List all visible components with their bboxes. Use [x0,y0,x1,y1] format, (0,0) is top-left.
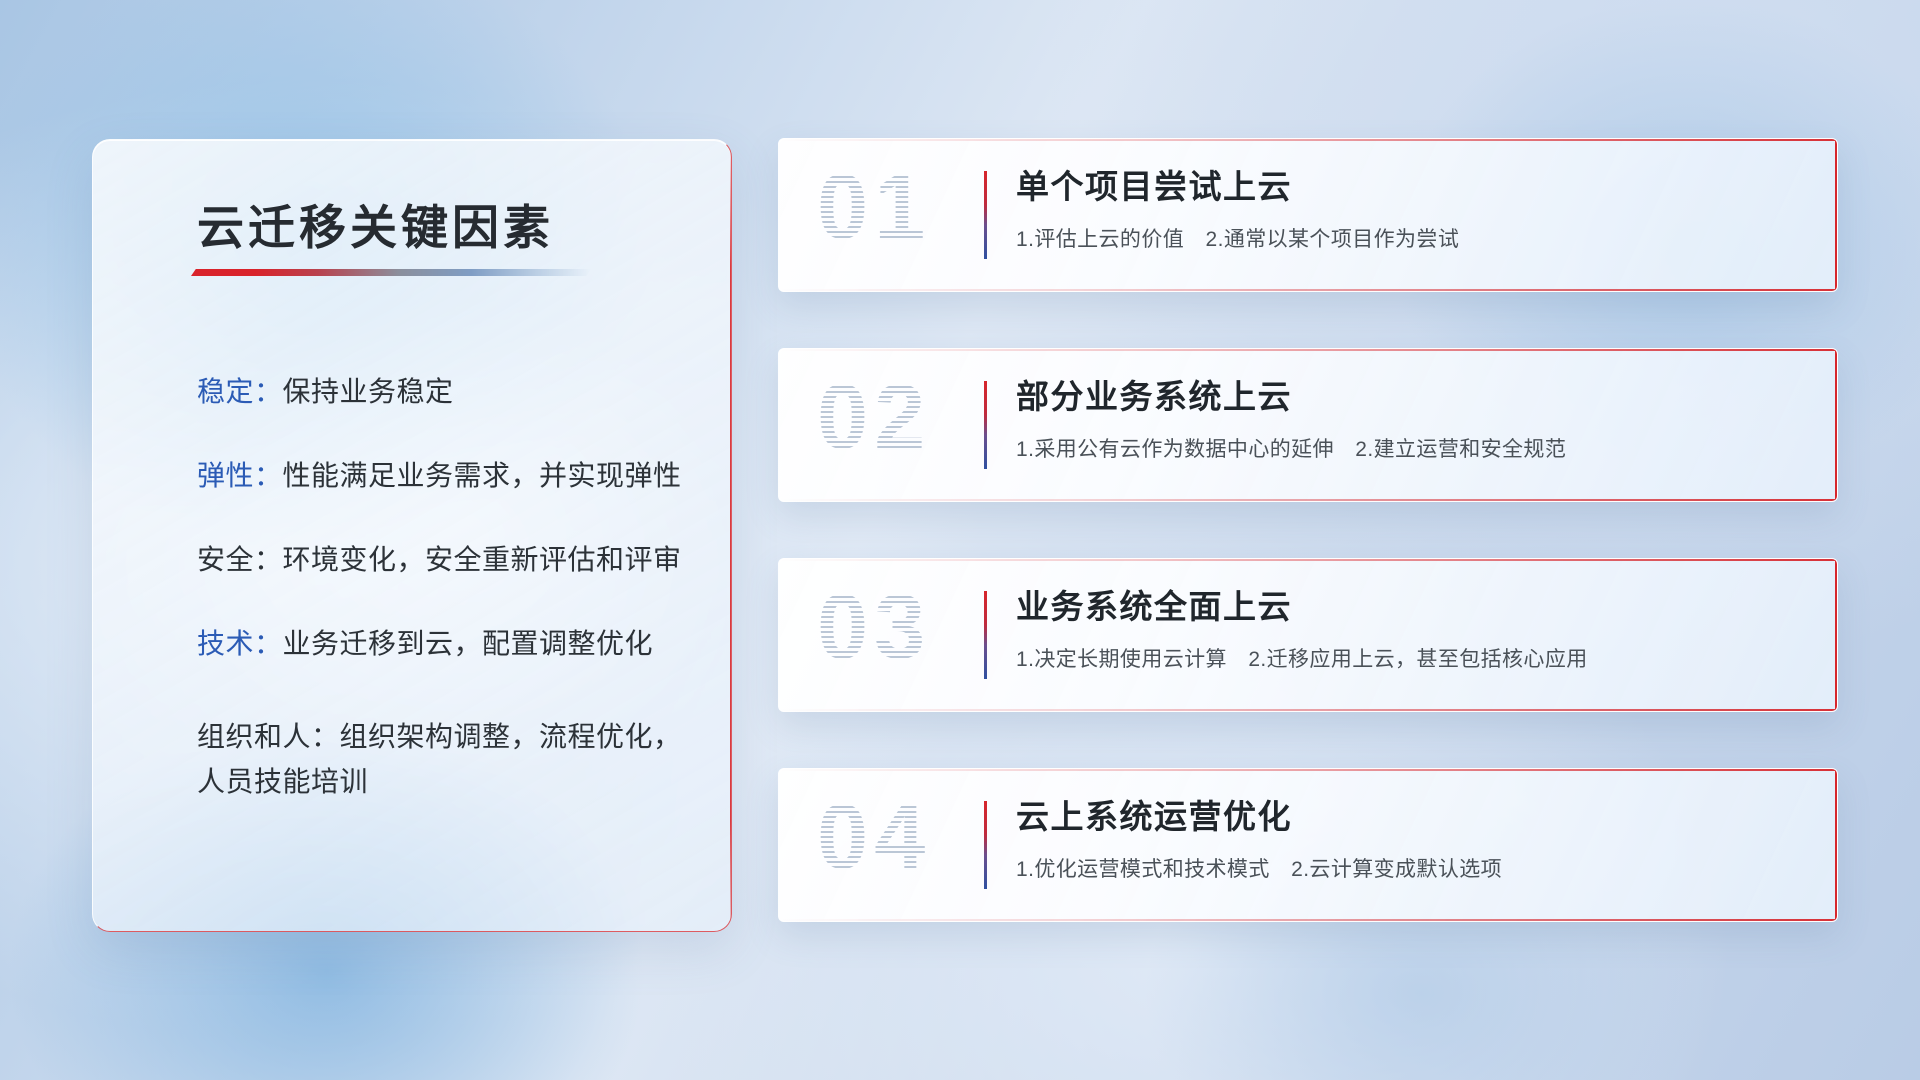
factor-row: 弹性：性能满足业务需求，并实现弹性 [197,462,695,490]
step-number-watermark: 03 [817,581,931,673]
step-title: 云上系统运营优化 [1016,797,1797,837]
card-accent-edge [779,919,1837,921]
step-number-watermark: 02 [817,371,931,463]
step-divider-bar [984,171,987,259]
factor-label: 安全： [197,544,283,575]
factor-row: 组织和人：组织架构调整，流程优化，人员技能培训 [197,714,695,805]
card-accent-edge [779,499,1837,501]
step-divider-bar [984,591,987,679]
factor-text: 业务迁移到云，配置调整优化 [283,628,654,659]
step-number-watermark: 01 [817,161,931,253]
step-card[interactable]: 03业务系统全面上云1.决定长期使用云计算 2.迁移应用上云，甚至包括核心应用 [778,558,1838,712]
step-title: 业务系统全面上云 [1016,587,1797,627]
step-number-watermark: 04 [817,791,931,883]
step-subtitle: 1.优化运营模式和技术模式 2.云计算变成默认选项 [1016,853,1797,883]
step-subtitle: 1.评估上云的价值 2.通常以某个项目作为尝试 [1016,223,1797,253]
step-divider-bar [984,381,987,469]
factor-list: 稳定：保持业务稳定弹性：性能满足业务需求，并实现弹性安全：环境变化，安全重新评估… [197,378,695,805]
step-text-block: 单个项目尝试上云1.评估上云的价值 2.通常以某个项目作为尝试 [1016,167,1797,253]
title-underline-rule [191,269,591,276]
step-divider-bar [984,801,987,889]
slide-stage: 云迁移关键因素 稳定：保持业务稳定弹性：性能满足业务需求，并实现弹性安全：环境变… [0,0,1920,1080]
step-text-block: 业务系统全面上云1.决定长期使用云计算 2.迁移应用上云，甚至包括核心应用 [1016,587,1797,673]
step-card[interactable]: 01单个项目尝试上云1.评估上云的价值 2.通常以某个项目作为尝试 [778,138,1838,292]
factor-label: 稳定： [197,376,283,407]
factor-row: 稳定：保持业务稳定 [197,378,695,406]
factor-label: 弹性： [197,460,283,491]
page-title: 云迁移关键因素 [197,189,554,258]
factor-label: 组织和人： [197,721,340,752]
factor-text: 环境变化，安全重新评估和评审 [283,544,682,575]
step-subtitle: 1.决定长期使用云计算 2.迁移应用上云，甚至包括核心应用 [1016,643,1797,673]
step-text-block: 部分业务系统上云1.采用公有云作为数据中心的延伸 2.建立运营和安全规范 [1016,377,1797,463]
migration-steps-list: 01单个项目尝试上云1.评估上云的价值 2.通常以某个项目作为尝试02部分业务系… [778,138,1838,922]
step-title: 部分业务系统上云 [1016,377,1797,417]
step-subtitle: 1.采用公有云作为数据中心的延伸 2.建立运营和安全规范 [1016,433,1797,463]
card-accent-edge [779,709,1837,711]
factor-row: 技术：业务迁移到云，配置调整优化 [197,630,695,658]
step-card[interactable]: 02部分业务系统上云1.采用公有云作为数据中心的延伸 2.建立运营和安全规范 [778,348,1838,502]
key-factors-panel: 云迁移关键因素 稳定：保持业务稳定弹性：性能满足业务需求，并实现弹性安全：环境变… [92,139,732,932]
card-accent-edge [779,289,1837,291]
step-title: 单个项目尝试上云 [1016,167,1797,207]
step-card[interactable]: 04云上系统运营优化1.优化运营模式和技术模式 2.云计算变成默认选项 [778,768,1838,922]
factor-text: 性能满足业务需求，并实现弹性 [283,460,682,491]
factor-label: 技术： [197,628,283,659]
step-text-block: 云上系统运营优化1.优化运营模式和技术模式 2.云计算变成默认选项 [1016,797,1797,883]
factor-row: 安全：环境变化，安全重新评估和评审 [197,546,695,574]
factor-text: 保持业务稳定 [283,376,454,407]
